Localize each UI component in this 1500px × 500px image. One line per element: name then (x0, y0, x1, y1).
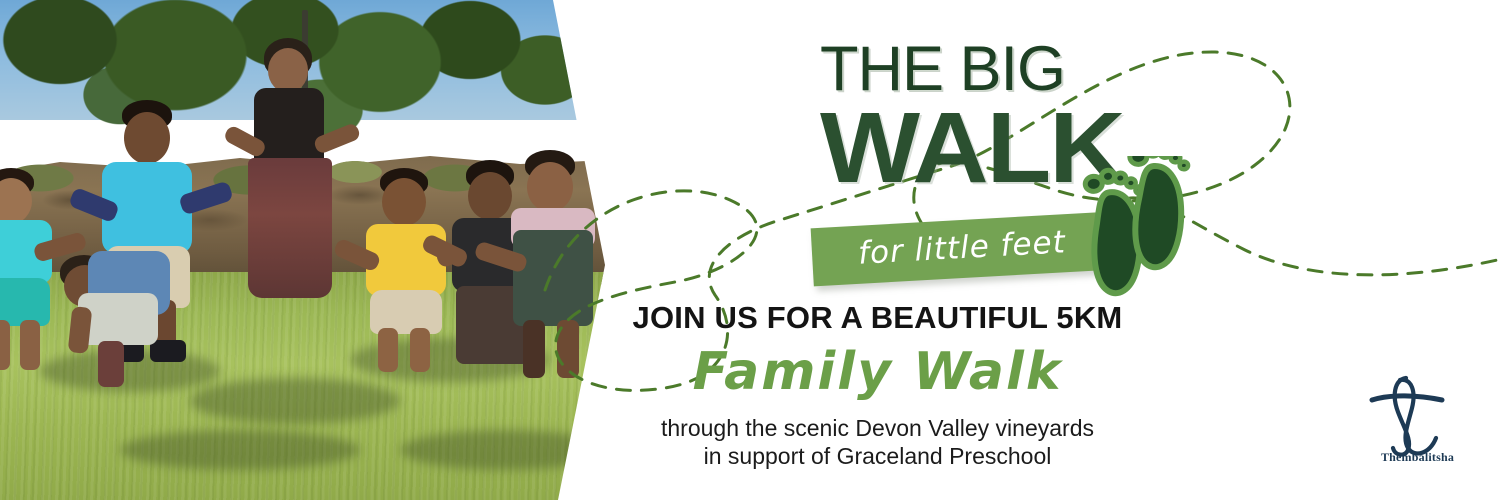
headline-sub-line-2: in support of Graceland Preschool (255, 442, 1500, 470)
headline-sub-line-1: through the scenic Devon Valley vineyard… (255, 414, 1500, 442)
figure-shorts (0, 278, 50, 326)
figure-arm (68, 306, 93, 354)
partner-name: Thembalitsha (1350, 450, 1485, 465)
footprints-icon (1082, 156, 1192, 306)
logo-ribbon: for little feet (811, 212, 1114, 287)
big-walk-banner: THE BIG WALK for little feet (0, 0, 1500, 500)
thembalitsha-t-monogram-icon (1350, 372, 1485, 462)
figure-torso (254, 88, 324, 166)
photo-figure-teacher (238, 38, 358, 328)
logo-line-the-big: THE BIG (820, 38, 1180, 100)
logo-ribbon-text: for little feet (811, 212, 1114, 287)
figure-leg (0, 320, 10, 370)
event-logo: THE BIG WALK for little feet (820, 38, 1180, 288)
figure-head (124, 112, 170, 164)
headline-sub-lines: through the scenic Devon Valley vineyard… (255, 414, 1500, 470)
figure-head (382, 178, 426, 226)
photo-figure-child (52, 245, 172, 395)
figure-skirt (248, 158, 332, 298)
figure-leg (98, 341, 124, 387)
headline-script-line: Family Walk (255, 342, 1500, 402)
partner-logo: Thembalitsha (1350, 372, 1485, 477)
figure-leg (20, 320, 40, 370)
headline-join-line: JOIN US FOR A BEAUTIFUL 5KM (255, 300, 1500, 336)
figure-head (268, 48, 308, 93)
content-panel: THE BIG WALK for little feet (555, 0, 1500, 500)
